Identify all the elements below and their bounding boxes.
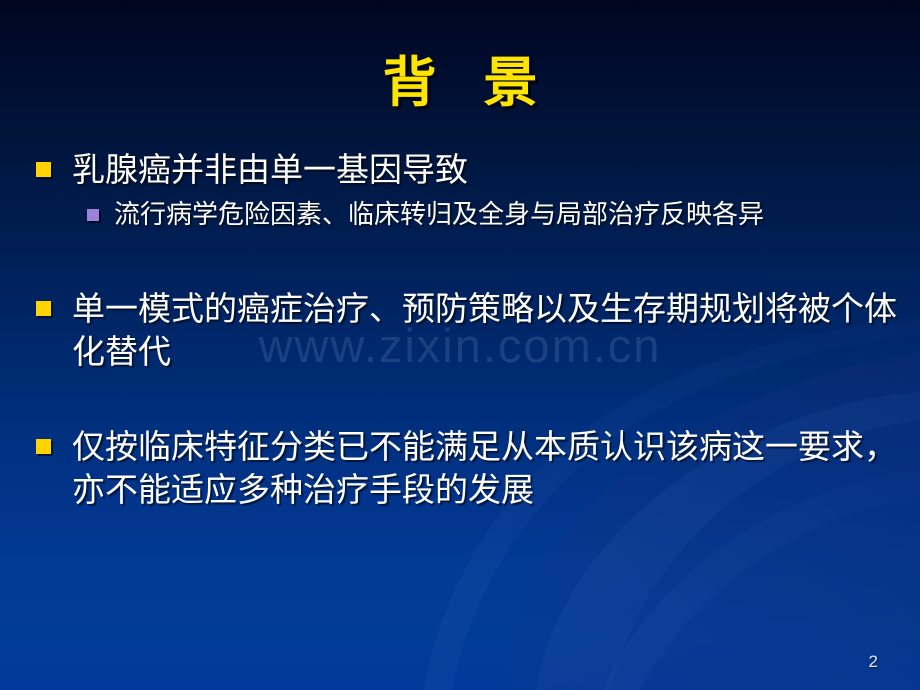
slide-body: 乳腺癌并非由单一基因导致 流行病学危险因素、临床转归及全身与局部治疗反映各异 单… <box>36 148 908 511</box>
bullet-text: 单一模式的癌症治疗、预防策略以及生存期规划将被个体化替代 <box>72 287 908 373</box>
sub-bullet-square-icon <box>87 197 114 221</box>
spacer <box>36 233 908 287</box>
bullet-text: 乳腺癌并非由单一基因导致 <box>72 148 908 191</box>
bullet-level1-item: 仅按临床特征分类已不能满足从本质认识该病这一要求，亦不能适应多种治疗手段的发展 <box>36 425 908 511</box>
bullet-level2-item: 流行病学危险因素、临床转归及全身与局部治疗反映各异 <box>87 197 908 233</box>
presentation-slide: www.zixin.com.cn 背 景 乳腺癌并非由单一基因导致 流行病学危险… <box>0 0 920 690</box>
bullet-level1-item: 单一模式的癌症治疗、预防策略以及生存期规划将被个体化替代 <box>36 287 908 373</box>
sub-bullet-text: 流行病学危险因素、临床转归及全身与局部治疗反映各异 <box>114 197 908 233</box>
slide-title: 背 景 <box>0 52 920 114</box>
page-number: 2 <box>869 652 878 672</box>
bullet-square-icon <box>36 287 72 316</box>
bullet-text: 仅按临床特征分类已不能满足从本质认识该病这一要求，亦不能适应多种治疗手段的发展 <box>72 425 908 511</box>
bullet-level1-item: 乳腺癌并非由单一基因导致 <box>36 148 908 191</box>
spacer <box>36 373 908 425</box>
bullet-square-icon <box>36 425 72 454</box>
bullet-square-icon <box>36 148 72 177</box>
